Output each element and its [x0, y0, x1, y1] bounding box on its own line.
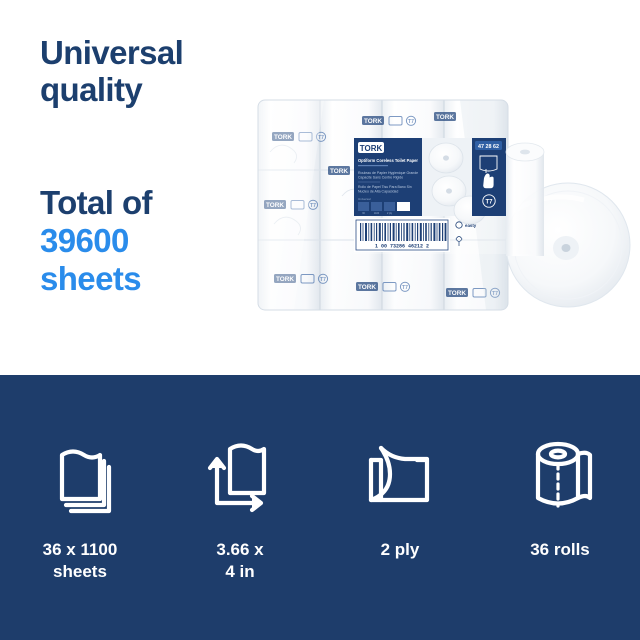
product-infographic: Universal quality Total of 39600 sheets: [0, 0, 640, 640]
feature-rolls: 36 rolls: [480, 435, 640, 583]
svg-text:Universal: Universal: [358, 197, 371, 201]
headline-block: Universal quality: [40, 34, 255, 108]
svg-text:T7: T7: [320, 277, 326, 283]
features-panel: 36 x 1100 sheets 3.66 x 4 in: [0, 375, 640, 640]
total-label: Total of: [40, 184, 255, 222]
svg-text:TORK: TORK: [358, 284, 376, 291]
feature-row: 36 x 1100 sheets 3.66 x 4 in: [0, 435, 640, 583]
svg-text:T7: T7: [318, 135, 324, 141]
svg-text:easty: easty: [465, 223, 477, 228]
barcode-block: 1 00 73286 46212 2: [354, 218, 450, 252]
svg-text:TORK: TORK: [448, 290, 466, 297]
label-title: Optiform Coreless Toilet Paper: [358, 158, 418, 163]
feature-sheets-label: 36 x 1100 sheets: [43, 539, 118, 583]
headline-line-2: quality: [40, 71, 255, 108]
label-code-strip: 47 28 62 T7: [472, 138, 506, 216]
svg-text:TORK: TORK: [436, 114, 454, 121]
feature-rolls-label: 36 rolls: [530, 539, 590, 561]
feature-dimensions: 3.66 x 4 in: [160, 435, 320, 583]
sheet-dimensions-icon: [192, 435, 288, 519]
svg-text:1100: 1100: [374, 212, 380, 215]
feature-dimensions-label: 3.66 x 4 in: [216, 539, 263, 583]
sheet-stack-icon: [32, 435, 128, 519]
label-line-fr: Rouleau de Papier Hygienique Grande: [358, 171, 418, 175]
toilet-roll-icon: [512, 435, 608, 519]
dispenser-code: T7: [485, 199, 493, 205]
svg-text:T7: T7: [402, 285, 408, 291]
feature-ply: 2 ply: [320, 435, 480, 583]
label-line-es: Rollo de Papel Tisu Para Bano Sin: [358, 185, 412, 189]
svg-text:TORK: TORK: [364, 118, 382, 125]
svg-text:Capacite Sans Centre Rigide: Capacite Sans Centre Rigide: [358, 176, 403, 180]
label-brand: TORK: [360, 144, 383, 153]
top-white-panel: Universal quality Total of 39600 sheets: [0, 0, 640, 375]
product-photo: TORK T7 TORK T7: [250, 92, 640, 322]
svg-text:T7: T7: [408, 119, 414, 125]
roll-stack-edge: [506, 143, 544, 256]
headline-line-1: Universal: [40, 34, 255, 71]
svg-text:TORK: TORK: [330, 168, 348, 175]
total-unit: sheets: [40, 260, 255, 298]
label-info-panel: TORK Optiform Coreless Toilet Paper Roul…: [354, 138, 422, 216]
total-sheets-block: Total of 39600 sheets: [40, 184, 255, 298]
svg-text:2 ply: 2 ply: [387, 212, 393, 215]
product-label: TORK Optiform Coreless Toilet Paper Roul…: [354, 138, 506, 254]
label-product-code: 47 28 62: [478, 144, 499, 150]
svg-text:T7: T7: [310, 203, 316, 209]
barcode-number: 1 00 73286 46212 2: [375, 244, 429, 250]
feature-ply-label: 2 ply: [381, 539, 420, 561]
svg-text:Nucleo de Alta Capacidad: Nucleo de Alta Capacidad: [358, 190, 398, 194]
two-ply-icon: [352, 435, 448, 519]
total-value: 39600: [40, 222, 255, 260]
feature-sheets: 36 x 1100 sheets: [0, 435, 160, 583]
